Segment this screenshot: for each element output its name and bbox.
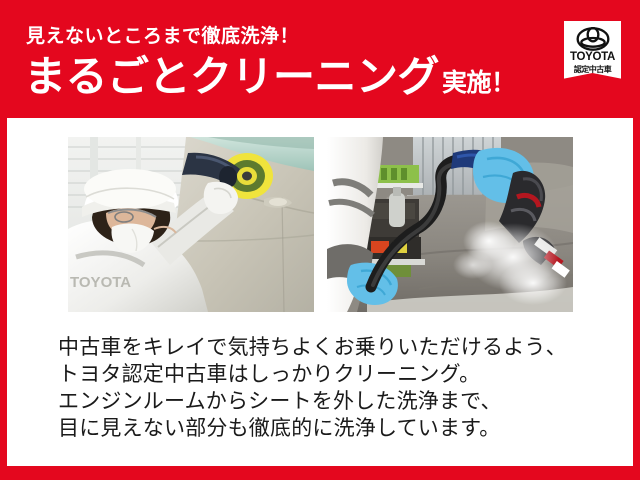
header-kicker-text: 見えないところまで徹底洗浄！: [26, 27, 299, 46]
photo-row: TOYOTA: [68, 137, 573, 312]
toyota-certification-text: 認定中古車: [574, 66, 612, 74]
photo-exterior-polishing: TOYOTA: [68, 137, 314, 312]
uniform-toyota-text: TOYOTA: [70, 274, 131, 291]
body-copy: 中古車をキレイで気持ちよくお乗りいただけるよう、 トヨタ認定中古車はしっかりクリ…: [58, 334, 618, 442]
header-headline: まるごとクリーニング 実施！: [24, 56, 516, 98]
toyota-ellipse-icon: [576, 27, 610, 51]
banner-body-card: TOYOTA: [7, 118, 633, 466]
headline-suffix-text: 実施！: [439, 71, 516, 98]
body-copy-line-3: エンジンルームからシートを外した洗浄まで、: [58, 388, 618, 415]
frame-border-right: [633, 118, 640, 480]
frame-border-bottom: [0, 466, 640, 480]
photo-interior-steam-cleaning: [327, 137, 573, 312]
toyota-wordmark-text: TOYOTA: [570, 52, 615, 64]
photo-exterior-polishing-illustration: TOYOTA: [68, 137, 314, 312]
body-copy-line-1: 中古車をキレイで気持ちよくお乗りいただけるよう、: [58, 334, 618, 361]
cleaning-promo-banner: 見えないところまで徹底洗浄！ まるごとクリーニング 実施！ TOYOTA 認定中…: [0, 0, 640, 480]
body-copy-line-2: トヨタ認定中古車はしっかりクリーニング。: [58, 361, 618, 388]
body-copy-line-4: 目に見えない部分も徹底的に洗浄しています。: [58, 415, 618, 442]
toyota-certified-badge: TOYOTA 認定中古車: [561, 18, 624, 96]
photo-interior-steam-cleaning-illustration: [327, 137, 573, 312]
banner-header: 見えないところまで徹底洗浄！ まるごとクリーニング 実施！ TOYOTA 認定中…: [0, 0, 640, 118]
headline-main-text: まるごとクリーニング: [24, 56, 439, 98]
frame-border-left: [0, 118, 7, 480]
